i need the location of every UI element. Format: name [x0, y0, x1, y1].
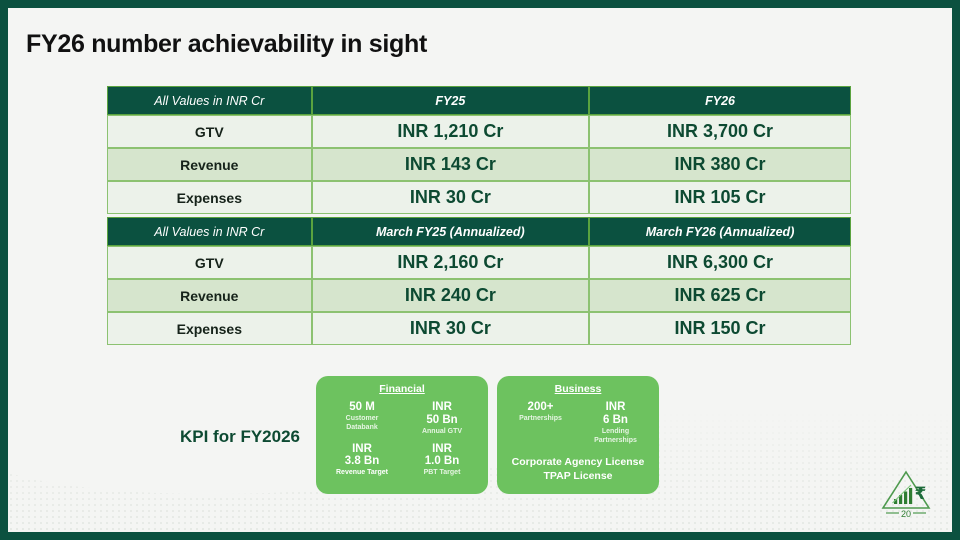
logo-caption: 20: [901, 509, 911, 519]
table-row: Expenses INR 30 Cr INR 105 Cr: [107, 181, 851, 214]
row-value-revenue-fy25: INR 143 Cr: [312, 148, 590, 181]
row-value-expenses-march-fy25: INR 30 Cr: [312, 312, 590, 345]
table-header-row-1: All Values in INR Cr FY25 FY26: [107, 86, 851, 115]
kpi-value-customer-databank: 50 M: [322, 401, 402, 414]
row-value-gtv-fy26: INR 3,700 Cr: [589, 115, 851, 148]
row-value-revenue-march-fy26: INR 625 Cr: [589, 279, 851, 312]
row-value-gtv-march-fy25: INR 2,160 Cr: [312, 246, 590, 279]
kpi-value-lending-line2: 6 Bn: [578, 414, 653, 427]
kpi-item-customer-databank: 50 M Customer Databank: [322, 401, 402, 436]
row-label-revenue-1: Revenue: [107, 148, 312, 181]
kpi-value-partnerships: 200+: [503, 401, 578, 414]
table-row: Revenue INR 240 Cr INR 625 Cr: [107, 279, 851, 312]
row-value-expenses-fy25: INR 30 Cr: [312, 181, 590, 214]
rupee-symbol: ₹: [915, 484, 927, 504]
kpi-item-pbt-target: INR 1.0 Bn PBT Target: [402, 443, 482, 478]
row-label-expenses-2: Expenses: [107, 312, 312, 345]
kpi-business-licenses: Corporate Agency License TPAP License: [497, 456, 659, 482]
kpi-value-revenue-target-line1: INR: [322, 443, 402, 456]
row-label-gtv-2: GTV: [107, 246, 312, 279]
kpi-item-annual-gtv: INR 50 Bn Annual GTV: [402, 401, 482, 436]
kpi-value-pbt-target-line1: INR: [402, 443, 482, 456]
table-header-row-2: All Values in INR Cr March FY25 (Annuali…: [107, 217, 851, 246]
kpi-value-revenue-target-line2: 3.8 Bn: [322, 455, 402, 468]
row-value-gtv-fy25: INR 1,210 Cr: [312, 115, 590, 148]
kpi-sub-partnerships: Partnerships: [503, 415, 578, 423]
rupee-growth-triangle-logo: ₹ 20: [878, 468, 934, 520]
table-header-cell-march-fy26: March FY26 (Annualized): [589, 217, 851, 246]
slide-canvas: FY26 number achievability in sight All V…: [8, 8, 952, 532]
kpi-sub-customer-databank-line2: Databank: [322, 424, 402, 432]
table-row: GTV INR 1,210 Cr INR 3,700 Cr: [107, 115, 851, 148]
table-row: Expenses INR 30 Cr INR 150 Cr: [107, 312, 851, 345]
kpi-sub-revenue-target: Revenue Target: [322, 469, 402, 477]
kpi-section-label: KPI for FY2026: [180, 427, 300, 447]
table-header-cell-fy25: FY25: [312, 86, 590, 115]
kpi-card-financial-title: Financial: [316, 383, 488, 395]
kpi-sub-customer-databank-line1: Customer: [322, 415, 402, 423]
kpi-value-annual-gtv-line2: 50 Bn: [402, 414, 482, 427]
financials-table: All Values in INR Cr FY25 FY26 GTV INR 1…: [107, 86, 851, 345]
row-value-expenses-fy26: INR 105 Cr: [589, 181, 851, 214]
kpi-item-revenue-target: INR 3.8 Bn Revenue Target: [322, 443, 402, 478]
kpi-item-partnerships: 200+ Partnerships: [503, 401, 578, 444]
kpi-card-business-title: Business: [497, 383, 659, 395]
row-value-revenue-march-fy25: INR 240 Cr: [312, 279, 590, 312]
table-row: GTV INR 2,160 Cr INR 6,300 Cr: [107, 246, 851, 279]
kpi-value-annual-gtv-line1: INR: [402, 401, 482, 414]
kpi-sub-annual-gtv: Annual GTV: [402, 428, 482, 436]
kpi-sub-lending-line1: Lending: [578, 428, 653, 436]
kpi-value-lending-line1: INR: [578, 401, 653, 414]
kpi-item-lending-partnerships: INR 6 Bn Lending Partnerships: [578, 401, 653, 444]
kpi-card-business: Business 200+ Partnerships INR 6 Bn Lend…: [497, 376, 659, 494]
slide-root: FY26 number achievability in sight All V…: [0, 0, 960, 540]
page-title: FY26 number achievability in sight: [26, 30, 427, 59]
kpi-sub-pbt-target: PBT Target: [402, 469, 482, 477]
row-value-revenue-fy26: INR 380 Cr: [589, 148, 851, 181]
row-value-expenses-march-fy26: INR 150 Cr: [589, 312, 851, 345]
table-header-cell-fy26: FY26: [589, 86, 851, 115]
logo-svg: ₹ 20: [878, 468, 934, 520]
kpi-sub-lending-line2: Partnerships: [578, 437, 653, 445]
row-label-revenue-2: Revenue: [107, 279, 312, 312]
license-line-corporate-agency: Corporate Agency License: [497, 456, 659, 469]
table-header-cell-units-2: All Values in INR Cr: [107, 217, 312, 246]
table-header-cell-march-fy25: March FY25 (Annualized): [312, 217, 590, 246]
kpi-value-pbt-target-line2: 1.0 Bn: [402, 455, 482, 468]
row-value-gtv-march-fy26: INR 6,300 Cr: [589, 246, 851, 279]
table-row: Revenue INR 143 Cr INR 380 Cr: [107, 148, 851, 181]
kpi-card-financial: Financial 50 M Customer Databank INR 50 …: [316, 376, 488, 494]
row-label-expenses-1: Expenses: [107, 181, 312, 214]
license-line-tpap: TPAP License: [497, 470, 659, 483]
row-label-gtv-1: GTV: [107, 115, 312, 148]
table-header-cell-units-1: All Values in INR Cr: [107, 86, 312, 115]
